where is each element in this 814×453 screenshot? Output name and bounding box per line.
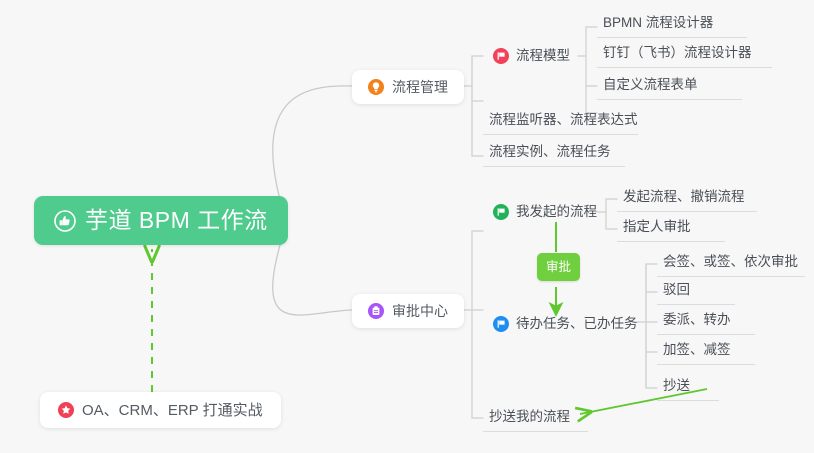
node-custom-form[interactable]: 自定义流程表单	[597, 74, 742, 100]
node-process-model[interactable]: 流程模型	[487, 44, 580, 70]
branch-node-label: 流程管理	[392, 80, 448, 94]
node-label: 委派、转办	[663, 313, 731, 328]
thumbs-up-icon	[54, 210, 76, 232]
node-assignee-approval[interactable]: 指定人审批	[617, 216, 725, 242]
tag-label: 审批	[546, 260, 571, 274]
flag-icon	[493, 204, 509, 220]
node-label: 流程监听器、流程表达式	[489, 113, 638, 128]
node-label: 待办任务、已办任务	[516, 317, 638, 332]
branch-node-process-management[interactable]: 流程管理	[352, 70, 464, 104]
node-label: 自定义流程表单	[603, 78, 698, 93]
star-icon	[58, 402, 74, 418]
connector-process-model-bracket	[578, 27, 597, 113]
node-cc-my-processes[interactable]: 抄送我的流程	[483, 406, 588, 432]
branch-node-label: 审批中心	[392, 304, 448, 318]
node-label: BPMN 流程设计器	[603, 16, 713, 31]
tag-approval[interactable]: 审批	[537, 253, 580, 281]
node-label: 发起流程、撤销流程	[623, 190, 745, 205]
node-label: 会签、或签、依次审批	[663, 255, 798, 270]
connector-root-to-process-management	[273, 86, 352, 207]
flag-icon	[493, 48, 509, 64]
lightbulb-icon	[368, 79, 384, 95]
connector-process-management-bracket	[462, 56, 483, 156]
node-todo-done-tasks[interactable]: 待办任务、已办任务	[487, 312, 648, 338]
node-bpmn-designer[interactable]: BPMN 流程设计器	[597, 12, 747, 38]
flag-icon	[493, 316, 509, 332]
node-label: 驳回	[663, 283, 690, 298]
node-countersign[interactable]: 会签、或签、依次审批	[657, 251, 805, 277]
connector-root-to-approval-center	[273, 238, 352, 315]
node-dingtalk-designer[interactable]: 钉钉（飞书）流程设计器	[597, 42, 772, 68]
mindmap-canvas: 芋道 BPM 工作流 流程管理 流程模型 BPMN 流程设计器 钉钉（飞书）流程	[0, 0, 814, 453]
connector-approval-center-bracket	[462, 231, 483, 418]
node-cc[interactable]: 抄送	[657, 375, 719, 401]
footnote-node[interactable]: OA、CRM、ERP 打通实战	[40, 392, 281, 428]
node-process-instance-task[interactable]: 流程实例、流程任务	[483, 141, 625, 167]
root-node-label: 芋道 BPM 工作流	[85, 209, 268, 232]
branch-node-approval-center[interactable]: 审批中心	[352, 294, 464, 328]
node-label: 我发起的流程	[516, 205, 597, 220]
root-node[interactable]: 芋道 BPM 工作流	[34, 196, 288, 245]
node-my-started-processes[interactable]: 我发起的流程	[487, 200, 607, 226]
node-label: 流程实例、流程任务	[489, 145, 611, 160]
node-label: 钉钉（飞书）流程设计器	[603, 46, 752, 61]
node-label: 抄送	[663, 379, 690, 394]
footnote-label: OA、CRM、ERP 打通实战	[82, 403, 263, 418]
clipboard-icon	[368, 303, 384, 319]
node-add-remove-sign[interactable]: 加签、减签	[657, 339, 755, 365]
node-label: 指定人审批	[623, 220, 691, 235]
node-start-cancel-process[interactable]: 发起流程、撤销流程	[617, 186, 757, 212]
node-label: 抄送我的流程	[489, 410, 570, 425]
node-delegate-transfer[interactable]: 委派、转办	[657, 309, 755, 335]
node-reject[interactable]: 驳回	[657, 279, 735, 305]
node-label: 加签、减签	[663, 343, 731, 358]
node-label: 流程模型	[516, 49, 570, 64]
node-process-listener-expression[interactable]: 流程监听器、流程表达式	[483, 109, 638, 135]
